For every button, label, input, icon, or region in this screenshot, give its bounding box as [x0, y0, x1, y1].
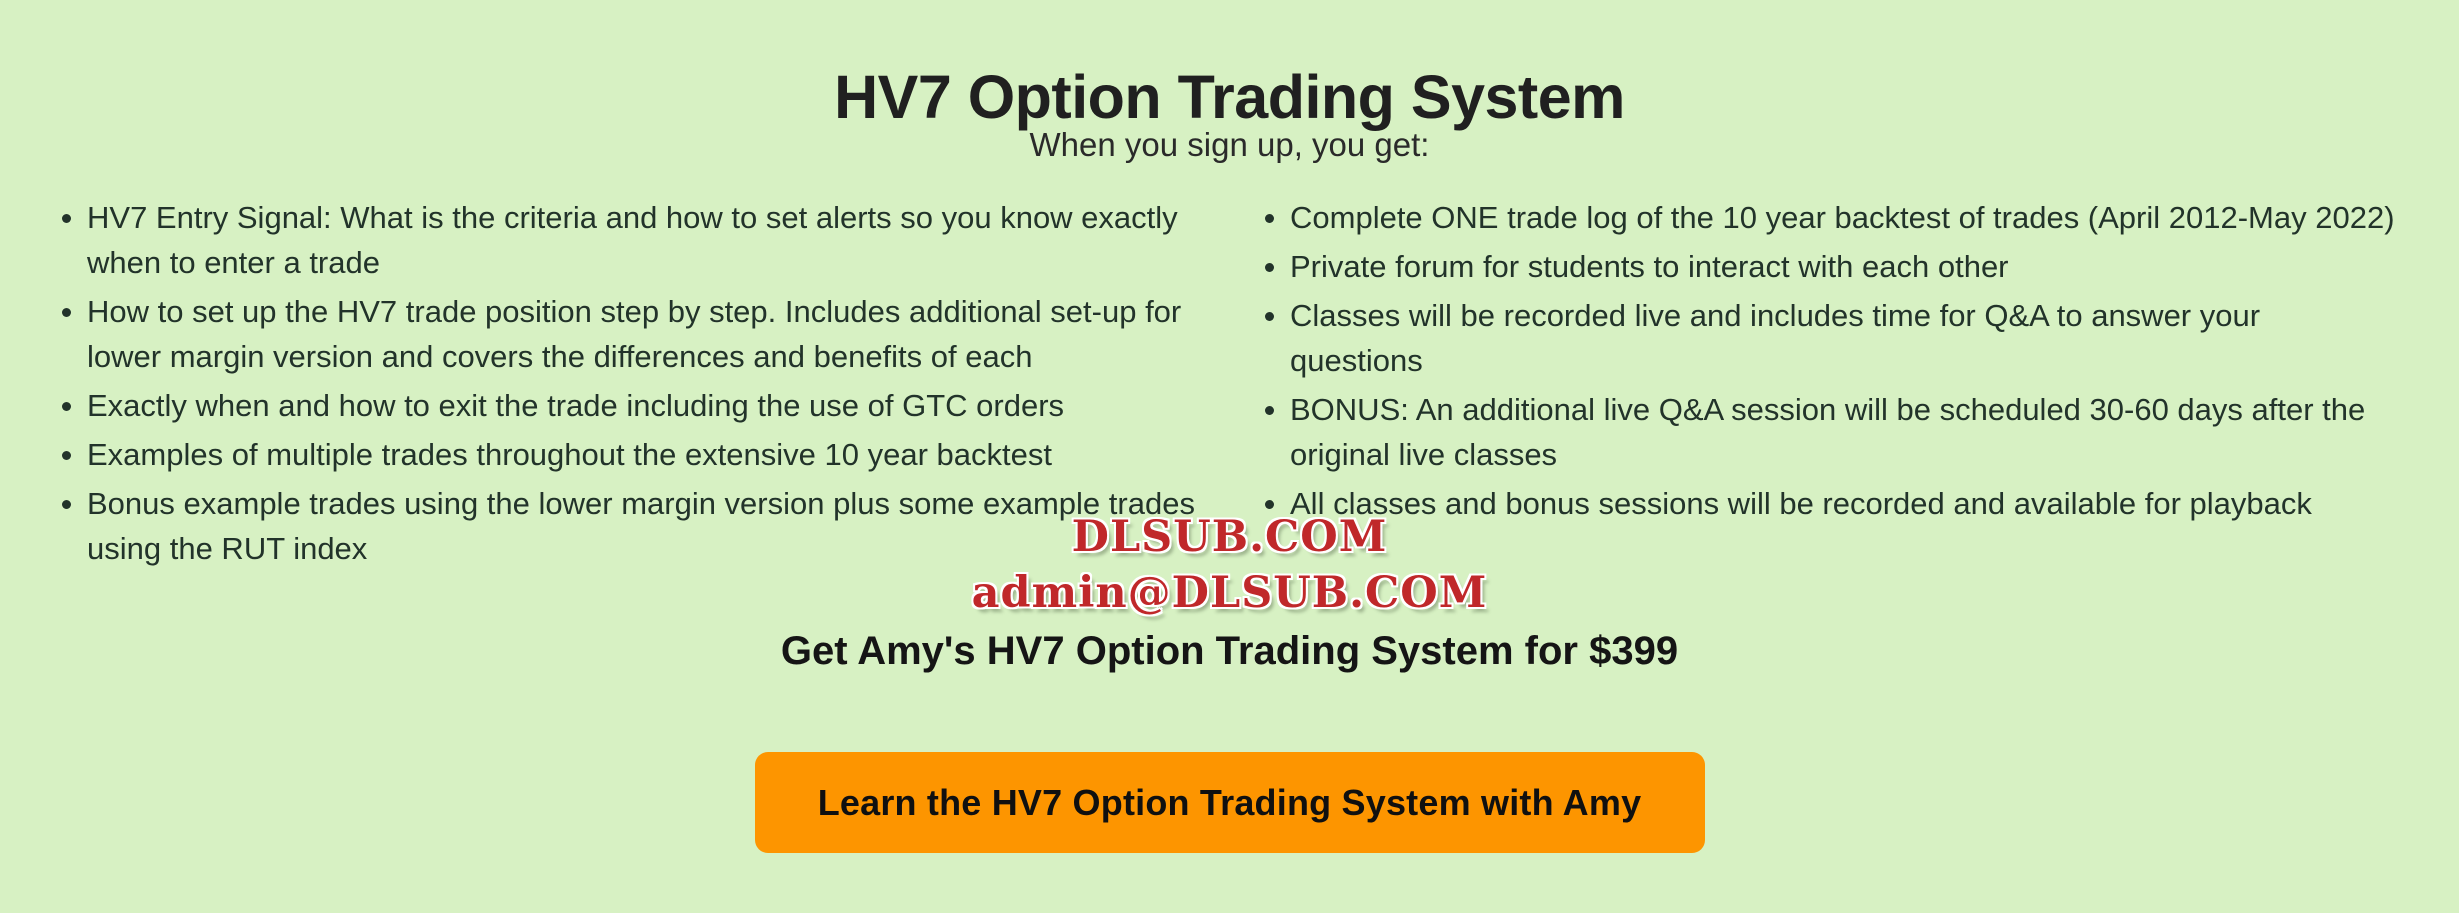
benefits-list-left: HV7 Entry Signal: What is the criteria a… — [52, 195, 1235, 571]
benefits-list-right: Complete ONE trade log of the 10 year ba… — [1255, 195, 2399, 526]
list-item: Exactly when and how to exit the trade i… — [52, 383, 1235, 428]
list-item: Private forum for students to interact w… — [1255, 244, 2399, 289]
list-item: Complete ONE trade log of the 10 year ba… — [1255, 195, 2399, 240]
page-subtitle: When you sign up, you get: — [0, 125, 2459, 165]
list-item: All classes and bonus sessions will be r… — [1255, 481, 2399, 526]
page-title: HV7 Option Trading System — [0, 63, 2459, 131]
cta-container: Learn the HV7 Option Trading System with… — [0, 752, 2459, 853]
list-item: Examples of multiple trades throughout t… — [52, 432, 1235, 477]
benefits-column-left: HV7 Entry Signal: What is the criteria a… — [0, 195, 1245, 575]
learn-hv7-button[interactable]: Learn the HV7 Option Trading System with… — [755, 752, 1705, 853]
price-headline: Get Amy's HV7 Option Trading System for … — [0, 627, 2459, 675]
landing-page: HV7 Option Trading System When you sign … — [0, 0, 2459, 913]
list-item: Classes will be recorded live and includ… — [1255, 293, 2399, 383]
list-item: Bonus example trades using the lower mar… — [52, 481, 1235, 571]
benefits-columns: HV7 Entry Signal: What is the criteria a… — [0, 195, 2459, 575]
list-item: How to set up the HV7 trade position ste… — [52, 289, 1235, 379]
list-item: BONUS: An additional live Q&A session wi… — [1255, 387, 2399, 477]
watermark-email: admin@DLSUB.COM — [0, 568, 2459, 618]
list-item: HV7 Entry Signal: What is the criteria a… — [52, 195, 1235, 285]
benefits-column-right: Complete ONE trade log of the 10 year ba… — [1245, 195, 2459, 530]
